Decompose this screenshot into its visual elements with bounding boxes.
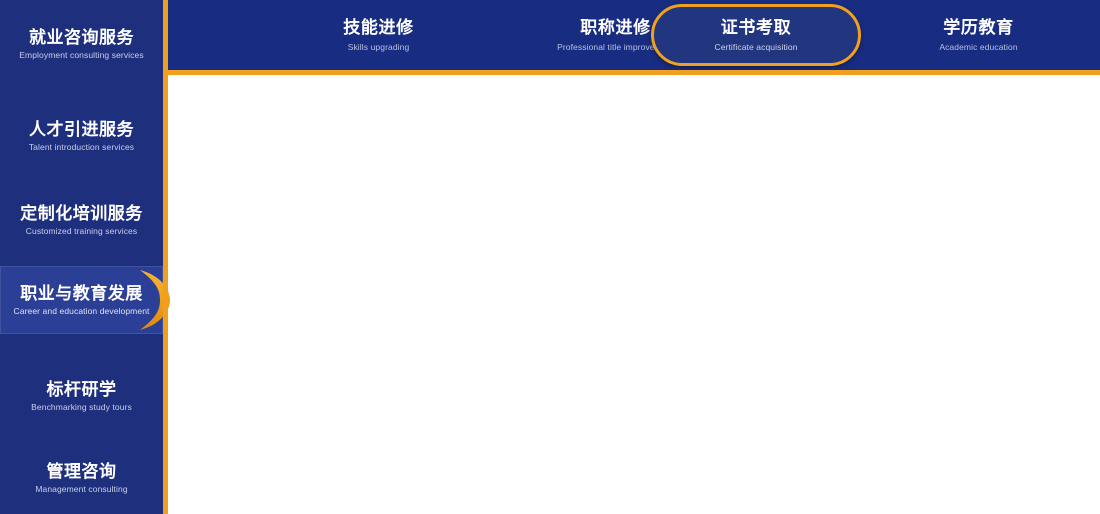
sidebar-item-label-cn: 人才引进服务 (29, 119, 134, 140)
tab-certificate-acquisition[interactable]: 证书考取 Certificate acquisition (651, 4, 861, 66)
sidebar-item-talent-introduction[interactable]: 人才引进服务 Talent introduction services (0, 98, 163, 174)
tab-skills-upgrading[interactable]: 技能进修 Skills upgrading (286, 0, 471, 70)
tab-label-cn: 证书考取 (721, 18, 791, 38)
sidebar-item-label-en: Customized training services (26, 226, 137, 237)
tab-academic-education[interactable]: 学历教育 Academic education (886, 0, 1071, 70)
tab-label-en: Academic education (939, 42, 1017, 52)
sidebar-item-label-cn: 就业咨询服务 (29, 27, 134, 48)
sidebar-item-employment-consulting[interactable]: 就业咨询服务 Employment consulting services (0, 6, 163, 82)
topbar-accent-divider (163, 70, 1100, 75)
sidebar-item-career-education-development[interactable]: 职业与教育发展 Career and education development (0, 266, 163, 334)
sidebar-item-label-cn: 定制化培训服务 (20, 203, 143, 224)
infographic-page: 就业咨询服务 Employment consulting services 人才… (0, 0, 1100, 514)
sidebar-accent-divider (163, 0, 168, 514)
sidebar-item-label-cn: 标杆研学 (47, 379, 117, 400)
sidebar-item-management-consulting[interactable]: 管理咨询 Management consulting (0, 440, 163, 514)
sidebar: 就业咨询服务 Employment consulting services 人才… (0, 0, 163, 514)
tab-label-cn: 职称进修 (580, 18, 650, 38)
main-content (168, 75, 1100, 514)
top-nav-bar: 技能进修 Skills upgrading 职称进修 Professional … (163, 0, 1100, 70)
sidebar-item-label-cn: 职业与教育发展 (20, 283, 143, 304)
sidebar-item-benchmarking-study[interactable]: 标杆研学 Benchmarking study tours (0, 358, 163, 434)
sidebar-item-label-en: Management consulting (35, 484, 127, 495)
sidebar-item-label-en: Talent introduction services (29, 142, 134, 153)
tab-label-en: Skills upgrading (348, 42, 410, 52)
tab-label-cn: 学历教育 (943, 18, 1013, 38)
tab-label-cn: 技能进修 (343, 18, 413, 38)
sidebar-item-label-cn: 管理咨询 (47, 461, 117, 482)
sidebar-item-customized-training[interactable]: 定制化培训服务 Customized training services (0, 182, 163, 258)
tab-label-en: Certificate acquisition (714, 42, 797, 52)
sidebar-item-label-en: Benchmarking study tours (31, 402, 132, 413)
sidebar-item-label-en: Employment consulting services (19, 50, 143, 61)
sidebar-item-label-en: Career and education development (14, 306, 150, 317)
